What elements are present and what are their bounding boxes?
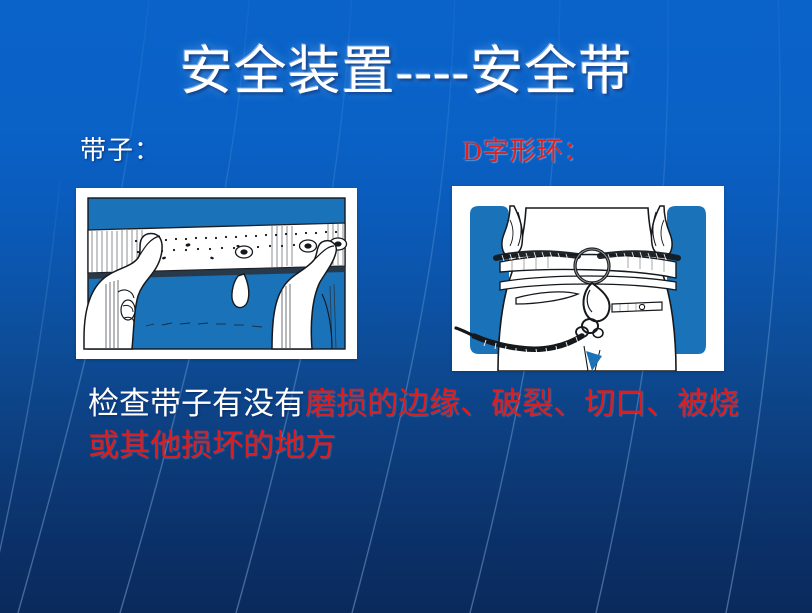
figure-strap-inspection: [76, 188, 357, 359]
strap-inspection-drawing: [76, 188, 357, 359]
slide-title: 安全装置----安全带: [0, 44, 812, 100]
body-text: 检查带子有没有磨损的边缘、破裂、切口、被烧或其他损坏的地方: [88, 383, 760, 467]
d-ring-drawing: [452, 186, 724, 371]
figure-d-ring: [452, 186, 724, 371]
presentation-slide: 安全装置----安全带 带子： D字形环：: [0, 0, 812, 613]
body-segment-white: 检查带子有没有: [88, 386, 305, 421]
label-strap: 带子：: [80, 138, 161, 164]
label-d-ring: D字形环：: [463, 139, 591, 165]
